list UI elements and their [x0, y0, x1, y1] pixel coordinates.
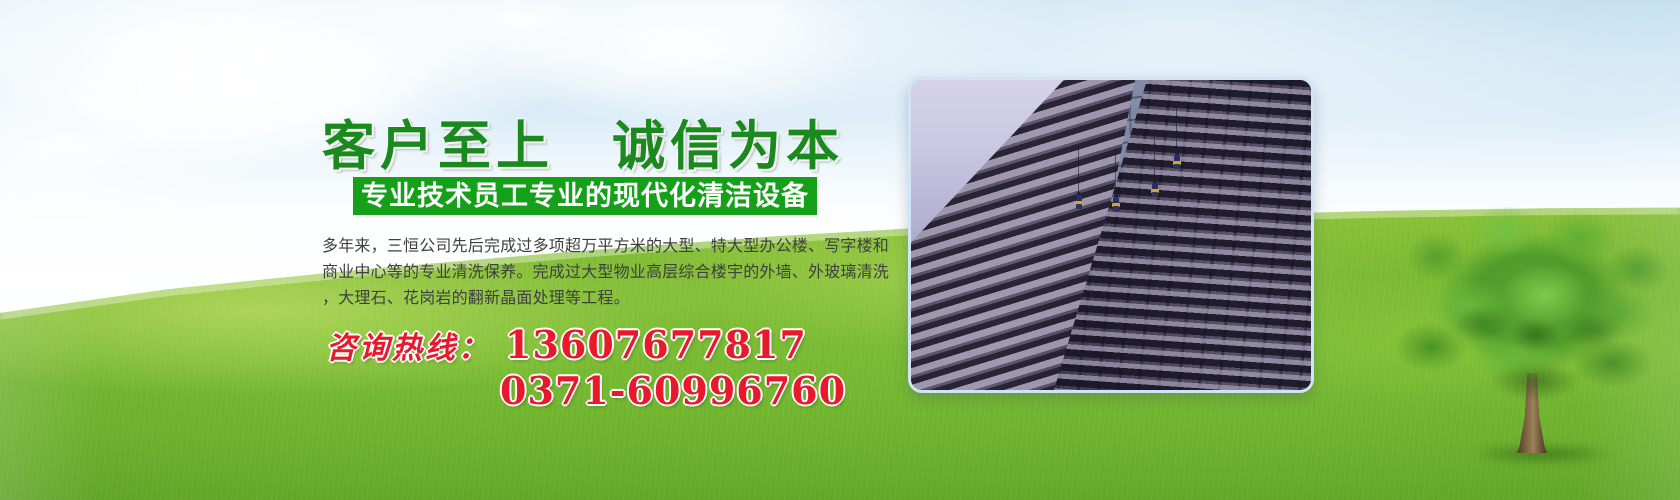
- description-line: ，大理石、花岗岩的翻新晶面处理等工程。: [322, 285, 890, 311]
- headline-slogan: 客户至上 诚信为本: [322, 104, 844, 180]
- hotline-label: 咨询热线：: [326, 323, 491, 367]
- worker-legs: [1076, 204, 1082, 209]
- phone-number-mobile[interactable]: 13607677817: [505, 322, 807, 367]
- worker-rope: [1154, 134, 1155, 182]
- window-cleaner-worker: [1112, 194, 1120, 210]
- window-cleaner-worker: [1151, 180, 1159, 196]
- sub-slogan-banner: 专业技术员工专业的现代化清洁设备: [353, 177, 817, 215]
- worker-legs: [1152, 192, 1158, 197]
- company-description: 多年来，三恒公司先后完成过多项超万平方米的大型、特大型办公楼、写字楼和 商业中心…: [322, 233, 890, 311]
- worker-legs: [1113, 206, 1119, 211]
- window-cleaner-worker: [1075, 192, 1083, 208]
- tree-canopy-shading: [1385, 195, 1680, 410]
- description-line: 商业中心等的专业清洗保养。完成过大型物业高层综合楼宇的外墙、外玻璃清洗: [322, 259, 890, 285]
- worker-rope: [1176, 106, 1177, 154]
- building-photo: [911, 80, 1311, 390]
- description-line: 多年来，三恒公司先后完成过多项超万平方米的大型、特大型办公楼、写字楼和: [322, 233, 890, 259]
- worker-rope: [1078, 146, 1079, 194]
- hero-banner: 客户至上 诚信为本 专业技术员工专业的现代化清洁设备 多年来，三恒公司先后完成过…: [0, 0, 1680, 500]
- phone-number-landline[interactable]: 0371-60996760: [500, 368, 846, 413]
- worker-rope: [1115, 148, 1116, 196]
- window-cleaner-worker: [1173, 152, 1181, 168]
- building-photo-frame[interactable]: [908, 77, 1314, 393]
- oak-tree-graphic: [1385, 195, 1680, 465]
- hotline-row: 咨询热线： 13607677817: [326, 322, 807, 367]
- worker-legs: [1174, 164, 1180, 169]
- sub-slogan-text: 专业技术员工专业的现代化清洁设备: [361, 183, 809, 210]
